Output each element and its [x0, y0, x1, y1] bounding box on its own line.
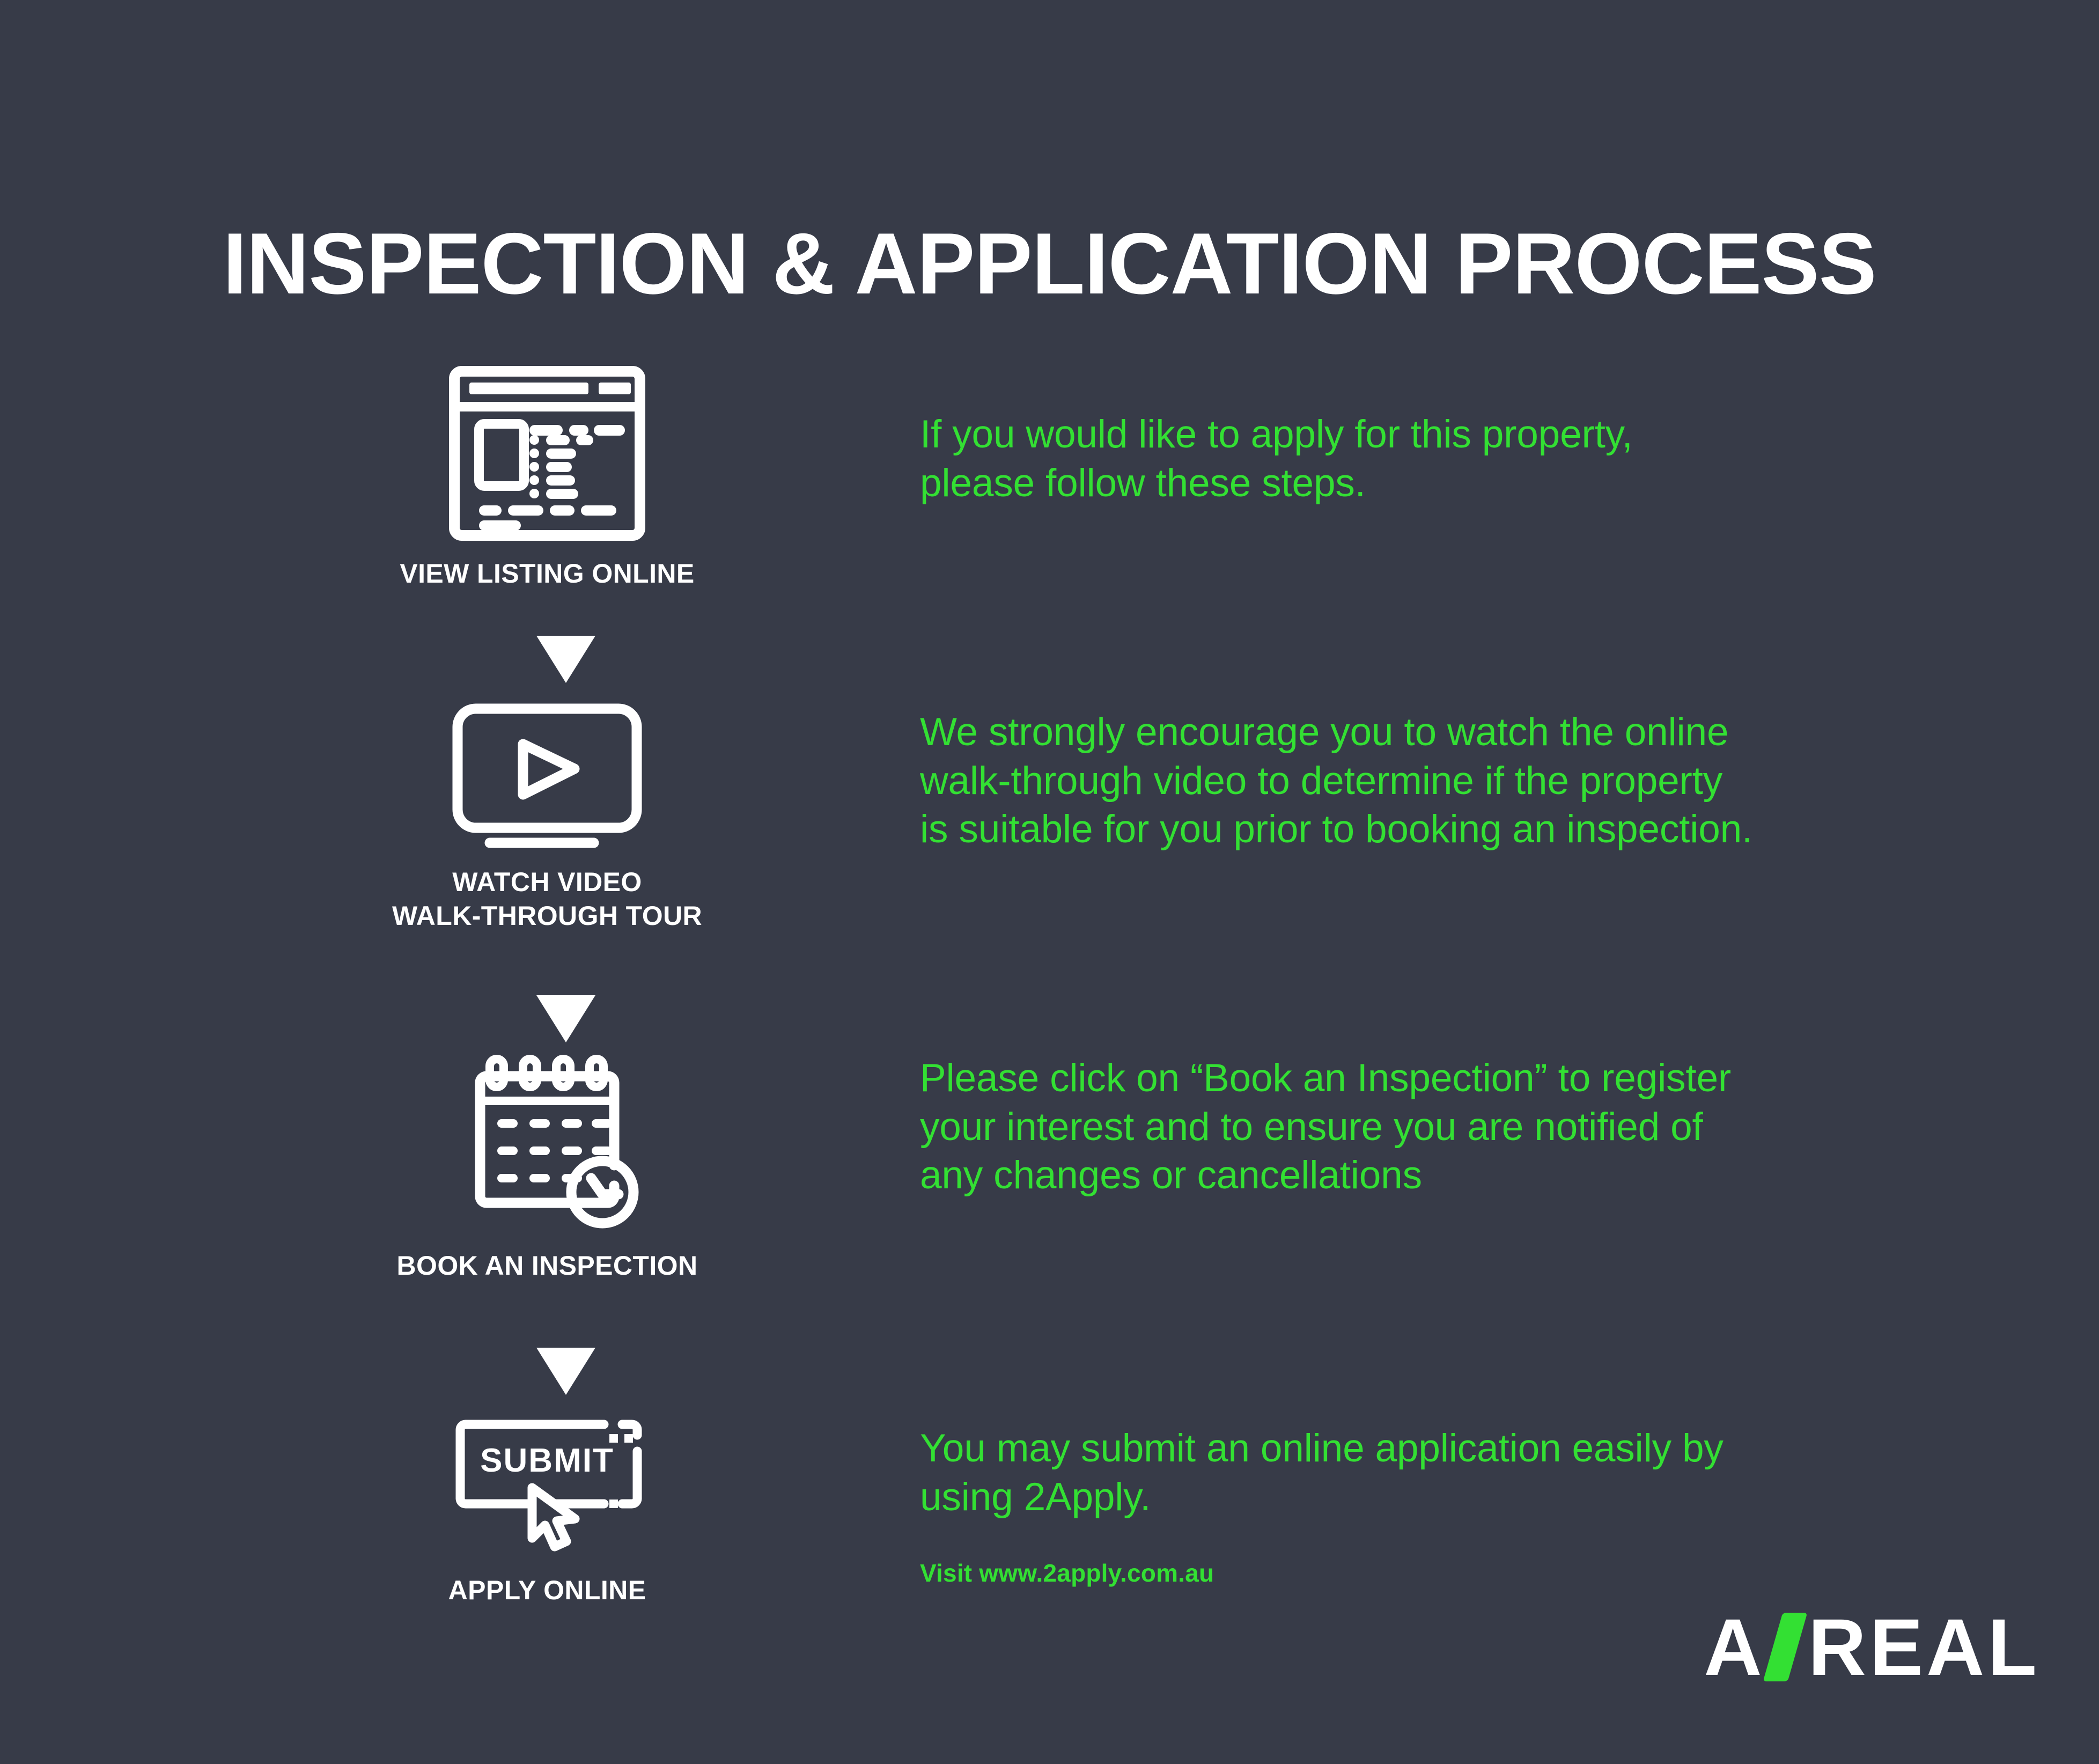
arrow-3-triangle-down-icon: [536, 1348, 595, 1395]
arrow-2-triangle-down-icon: [536, 995, 595, 1042]
step-apply-online: SUBMIT APPLY ONLINE: [333, 1408, 762, 1607]
calendar-clock-icon: [333, 1052, 762, 1239]
web-listing-icon: [333, 365, 762, 547]
logo-text-real: REAL: [1808, 1607, 2040, 1687]
logo-text-a: A: [1704, 1607, 1765, 1687]
copy-watch-video: We strongly encourage you to watch the o…: [920, 708, 1752, 854]
step-watch-video: WATCH VIDEO WALK-THROUGH TOUR: [333, 695, 762, 933]
step-book-inspection: BOOK AN INSPECTION: [333, 1052, 762, 1283]
copy-view-listing: If you would like to apply for this prop…: [920, 410, 1633, 508]
areal-logo: A REAL: [1704, 1607, 2040, 1687]
logo-slash-icon: [1763, 1613, 1807, 1681]
step-label-book-inspection: BOOK AN INSPECTION: [333, 1249, 762, 1283]
video-play-monitor-icon: [333, 695, 762, 856]
submit-button-cursor-icon: SUBMIT: [333, 1408, 762, 1564]
step-label-view-listing: VIEW LISTING ONLINE: [333, 557, 762, 591]
infographic-poster: INSPECTION & APPLICATION PROCESS: [0, 0, 2099, 1764]
arrow-1-triangle-down-icon: [536, 636, 595, 683]
visit-2apply-link[interactable]: Visit www.2apply.com.au: [920, 1559, 1214, 1587]
copy-apply-online: You may submit an online application eas…: [920, 1424, 1724, 1522]
copy-book-inspection: Please click on “Book an Inspection” to …: [920, 1054, 1731, 1200]
step-label-apply-online: APPLY ONLINE: [333, 1574, 762, 1607]
step-view-listing: VIEW LISTING ONLINE: [333, 365, 762, 591]
page-title: INSPECTION & APPLICATION PROCESS: [0, 218, 2099, 310]
step-label-watch-video: WATCH VIDEO WALK-THROUGH TOUR: [333, 865, 762, 933]
submit-icon-text: SUBMIT: [480, 1442, 614, 1479]
